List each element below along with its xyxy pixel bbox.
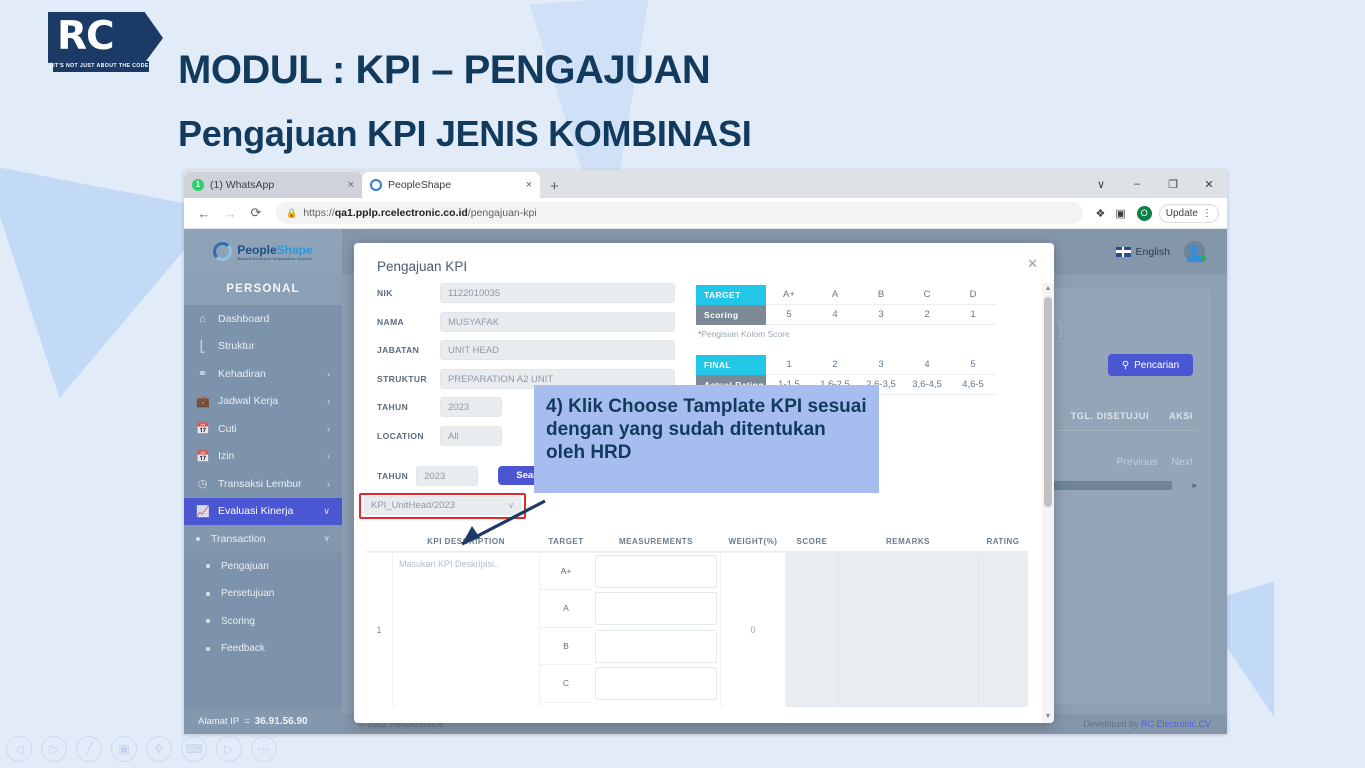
browser-tab-strip: 1 (1) WhatsApp × PeopleShape × + ∨ – ❐ ✕ [184, 170, 1227, 198]
callout-arrow [440, 498, 550, 548]
address-bar[interactable]: 🔒 https://qa1.pplp.rcelectronic.co.id/pe… [276, 202, 1083, 224]
rating-cell [978, 553, 1028, 707]
sidebar-item-label: Feedback [221, 643, 265, 654]
target-cell-c: C [540, 665, 592, 703]
back-icon[interactable]: ← [192, 206, 216, 221]
sidebar-ip-address: Alamat IP = 36.91.56.90 [184, 708, 342, 734]
calendar-icon: 📅 [196, 422, 209, 435]
presentation-toolbar: ◁ ▷ ╱ ▣ ⚲ ⌨ ▷ ••• [6, 736, 277, 762]
weight-cell: 0 [720, 553, 786, 707]
brand-name: PeopleShape Human Resource Information S… [237, 243, 312, 261]
sidebar-item-transaksi-lembur[interactable]: ◷ Transaksi Lembur › [184, 470, 342, 498]
all-slides-icon[interactable]: ▣ [111, 736, 137, 762]
pen-icon[interactable]: ╱ [76, 736, 102, 762]
jabatan-field[interactable]: UNIT HEAD [440, 340, 675, 360]
footer-credit: Developed by RC Electronic,CV [1083, 719, 1211, 729]
background-search-button[interactable]: ⚲ Pencarian [1108, 354, 1193, 376]
close-icon[interactable]: ✕ [1027, 256, 1038, 272]
field-label: NAMA [377, 317, 440, 327]
fingerprint-icon: ⚭ [196, 367, 209, 380]
bullet-icon [206, 619, 210, 623]
rating-col-3: 4 [904, 359, 950, 370]
rating-col-1: 2 [812, 359, 858, 370]
ip-value: 36.91.56.90 [255, 716, 308, 727]
sidebar-item-evaluasi-kinerja[interactable]: 📈 Evaluasi Kinerja ∨ [184, 498, 342, 526]
modal-scrollbar[interactable]: ▲ ▼ [1042, 283, 1054, 723]
chevron-down-icon: ∨ [323, 533, 330, 544]
chevron-right-icon: › [327, 451, 330, 461]
bullet-icon [206, 564, 210, 568]
bullet-icon [206, 647, 210, 651]
forward-icon[interactable]: → [218, 206, 242, 221]
kpi-table: KPI DESCRIPTION TARGET MEASUREMENTS WEIG… [366, 537, 1028, 707]
nik-field[interactable]: 1122010035 [440, 283, 675, 303]
previous-slide-icon[interactable]: ◁ [6, 736, 32, 762]
language-selector[interactable]: English [1116, 246, 1170, 258]
scoring-val-1: 4 [812, 309, 858, 320]
sidebar-section-personal: PERSONAL [184, 274, 342, 305]
slide-title-primary: MODUL : KPI – PENGAJUAN [178, 48, 710, 93]
column-header-no [366, 537, 392, 546]
sidebar-item-label: Persetujuan [221, 588, 274, 599]
sidebar-item-label: Cuti [218, 423, 237, 435]
window-controls: ∨ – ❐ ✕ [1083, 170, 1227, 198]
calendar-icon: 📅 [196, 450, 209, 463]
scroll-down-icon[interactable]: ▼ [1042, 711, 1054, 723]
app-sidebar: PeopleShape Human Resource Information S… [184, 229, 342, 734]
column-header-rating: RATING [978, 537, 1028, 546]
ip-label: Alamat IP [198, 716, 239, 727]
browser-tab-peopleshape[interactable]: PeopleShape × [362, 172, 540, 198]
profile-avatar[interactable]: O [1137, 206, 1152, 221]
url-host: qa1.pplp.rcelectronic.co.id [335, 207, 468, 219]
table-row: FINAL RATING 1 2 3 4 5 [696, 355, 996, 375]
maximize-icon[interactable]: ❐ [1155, 178, 1191, 191]
brand-subtitle: Human Resource Information System [237, 257, 312, 261]
bullet-icon [196, 537, 200, 541]
lock-icon: 🔒 [286, 208, 297, 219]
target-column: A+ A B C [540, 553, 592, 707]
side-panel-icon[interactable]: ▣ [1111, 207, 1129, 220]
target-col-0: A+ [766, 289, 812, 300]
sidebar-item-label: Transaction [211, 533, 265, 545]
slide-title-secondary: Pengajuan KPI JENIS KOMBINASI [178, 113, 751, 155]
sidebar-item-label: Evaluasi Kinerja [218, 505, 293, 517]
update-label: Update [1166, 208, 1198, 219]
language-label: English [1136, 246, 1170, 258]
sidebar-item-dashboard[interactable]: ⌂ Dashboard [184, 305, 342, 333]
scrollbar-thumb[interactable] [1044, 297, 1052, 507]
camera-off-icon[interactable]: ▷ [216, 736, 242, 762]
sidebar-item-jadwal-kerja[interactable]: 💼 Jadwal Kerja › [184, 388, 342, 416]
field-label: LOCATION [377, 431, 440, 441]
column-header-tgl-disetujui: TGL. DISETUJUI [1071, 411, 1149, 421]
table-row: TARGET A+ A B C D [696, 285, 996, 305]
table-row: 1 Masukan KPI Deskripisi.. A+ A B C [366, 552, 1028, 707]
sidebar-item-label: Jadwal Kerja [218, 395, 278, 407]
update-button[interactable]: Update ⋮ [1159, 204, 1219, 223]
tab-title: PeopleShape [388, 179, 520, 191]
clock-icon: ◷ [196, 477, 209, 490]
row-label-final-rating: FINAL RATING [696, 355, 766, 375]
rc-electronic-link[interactable]: RC Electronic,CV [1141, 719, 1211, 729]
sidebar-item-persetujuan[interactable]: Persetujuan [184, 580, 342, 608]
sidebar-item-struktur[interactable]: ⎣ Struktur [184, 333, 342, 361]
measurement-input-aplus[interactable] [595, 555, 717, 588]
background-pagination: Previous Next [1117, 456, 1193, 468]
field-label: NIK [377, 288, 440, 298]
briefcase-icon: 💼 [196, 395, 209, 408]
target-cell-aplus: A+ [540, 553, 592, 591]
target-cell-a: A [540, 590, 592, 628]
sidebar-item-kehadiran[interactable]: ⚭ Kehadiran › [184, 360, 342, 388]
sidebar-item-label: Dashboard [218, 313, 269, 325]
whatsapp-icon: 1 [192, 179, 204, 191]
modal-title: Pengajuan KPI [377, 259, 467, 274]
column-header-weight: WEIGHT(%) [720, 537, 786, 546]
sidebar-item-label: Izin [218, 450, 234, 462]
chevron-right-icon: › [327, 424, 330, 434]
nama-field[interactable]: MUSYAFAK [440, 312, 675, 332]
user-avatar[interactable] [1184, 241, 1205, 262]
column-header-measurements: MEASUREMENTS [592, 537, 720, 546]
rating-col-4: 5 [950, 359, 996, 370]
peopleshape-logo-icon [213, 242, 232, 261]
chevron-right-icon: › [327, 396, 330, 406]
previous-page-button[interactable]: Previous [1117, 456, 1158, 468]
scoring-val-0: 5 [766, 309, 812, 320]
search-year-label: TAHUN [377, 471, 408, 481]
sidebar-item-izin[interactable]: 📅 Izin › [184, 443, 342, 471]
captions-icon[interactable]: ⌨ [181, 736, 207, 762]
actual-rating-4: 4,6-5 [950, 379, 996, 390]
close-window-icon[interactable]: ✕ [1191, 178, 1227, 191]
column-header-score: SCORE [786, 537, 838, 546]
rating-col-2: 3 [858, 359, 904, 370]
peopleshape-icon [370, 179, 382, 191]
row-number: 1 [366, 553, 392, 707]
score-cell [786, 553, 838, 707]
remarks-cell [838, 553, 978, 707]
field-label: JABATAN [377, 345, 440, 355]
next-page-button[interactable]: Next [1171, 456, 1193, 468]
next-slide-icon[interactable]: ▷ [41, 736, 67, 762]
measurement-input-a[interactable] [595, 592, 717, 625]
browser-omnibar: ← → ⟳ 🔒 https://qa1.pplp.rcelectronic.co… [184, 198, 1227, 229]
column-header-aksi: AKSI [1169, 411, 1193, 421]
logo-tagline: IT'S NOT JUST ABOUT THE CODE [53, 61, 149, 72]
sidebar-item-label: Struktur [218, 340, 255, 352]
url-protocol: https:// [303, 207, 335, 219]
chevron-down-icon: ∨ [323, 506, 330, 517]
scoring-val-2: 3 [858, 309, 904, 320]
scoring-val-4: 1 [950, 309, 996, 320]
rc-logo: RC IT'S NOT JUST ABOUT THE CODE [48, 12, 163, 74]
close-icon[interactable]: × [526, 179, 532, 191]
chevron-right-icon: › [327, 479, 330, 489]
target-col-2: B [858, 289, 904, 300]
location-field[interactable]: All [440, 426, 502, 446]
sidebar-item-pengajuan[interactable]: Pengajuan [184, 553, 342, 581]
sidebar-brand[interactable]: PeopleShape Human Resource Information S… [184, 229, 342, 274]
tahun-field[interactable]: 2023 [440, 397, 502, 417]
background-table-headers: TUS TGL. DISETUJUI AKSI [1031, 411, 1193, 421]
sidebar-item-label: Kehadiran [218, 368, 266, 380]
more-menu-icon[interactable]: ⋮ [1202, 208, 1212, 219]
sidebar-item-label: Transaksi Lembur [218, 478, 302, 490]
table-row: Scoring 5 4 3 2 1 [696, 305, 996, 325]
scroll-up-icon[interactable]: ▲ [1042, 283, 1054, 295]
field-label: TAHUN [377, 402, 440, 412]
sidebar-item-cuti[interactable]: 📅 Cuti › [184, 415, 342, 443]
new-tab-button[interactable]: + [540, 178, 569, 198]
measurements-column [592, 553, 720, 707]
sidebar-item-label: Scoring [221, 616, 255, 627]
extensions-icon[interactable]: ❖ [1091, 207, 1109, 220]
column-header-remarks: REMARKS [838, 537, 978, 546]
url-path: /pengajuan-kpi [468, 207, 537, 219]
tab-title: (1) WhatsApp [210, 179, 342, 191]
field-label: STRUKTUR [377, 374, 440, 384]
instruction-callout: 4) Klik Choose Tamplate KPI sesuai denga… [534, 385, 879, 493]
rating-col-0: 1 [766, 359, 812, 370]
measurement-input-b[interactable] [595, 630, 717, 663]
chart-line-icon: 📈 [196, 505, 209, 518]
online-status-dot [1199, 255, 1206, 262]
sidebar-item-label: Pengajuan [221, 561, 269, 572]
browser-tab-whatsapp[interactable]: 1 (1) WhatsApp × [184, 172, 362, 198]
sitemap-icon: ⎣ [196, 340, 209, 353]
sidebar-item-scoring[interactable]: Scoring [184, 608, 342, 636]
sidebar-item-feedback[interactable]: Feedback [184, 635, 342, 663]
target-col-3: C [904, 289, 950, 300]
search-button-label: Pencarian [1134, 360, 1179, 371]
uk-flag-icon [1116, 247, 1131, 257]
search-icon: ⚲ [1122, 360, 1129, 371]
target-col-4: D [950, 289, 996, 300]
actual-rating-3: 3,6-4,5 [904, 379, 950, 390]
minimize-icon[interactable]: – [1119, 178, 1155, 190]
scoring-note: *Pengisian Kolom Score [698, 329, 996, 339]
ip-equals: = [244, 716, 250, 727]
measurement-input-c[interactable] [595, 667, 717, 700]
scroll-right-icon[interactable]: ▸ [1192, 480, 1197, 491]
zoom-icon[interactable]: ⚲ [146, 736, 172, 762]
target-scoring-table: TARGET A+ A B C D Scoring 5 4 3 2 1 [696, 285, 996, 339]
target-col-1: A [812, 289, 858, 300]
close-icon[interactable]: × [348, 179, 354, 191]
scoring-val-3: 2 [904, 309, 950, 320]
logo-mark-text: RC [57, 14, 114, 59]
reload-icon[interactable]: ⟳ [244, 205, 268, 221]
more-options-icon[interactable]: ••• [251, 736, 277, 762]
home-icon: ⌂ [196, 313, 209, 325]
row-label-target: TARGET [696, 285, 766, 305]
target-cell-b: B [540, 628, 592, 666]
chevron-right-icon: › [327, 369, 330, 379]
sidebar-item-transaction[interactable]: Transaction ∨ [184, 525, 342, 553]
kpi-description-input[interactable]: Masukan KPI Deskripisi.. [392, 553, 540, 707]
bullet-icon [206, 592, 210, 596]
chevron-down-icon[interactable]: ∨ [1083, 178, 1119, 191]
search-year-input[interactable]: 2023 [416, 466, 478, 486]
row-label-scoring: Scoring [696, 305, 766, 325]
